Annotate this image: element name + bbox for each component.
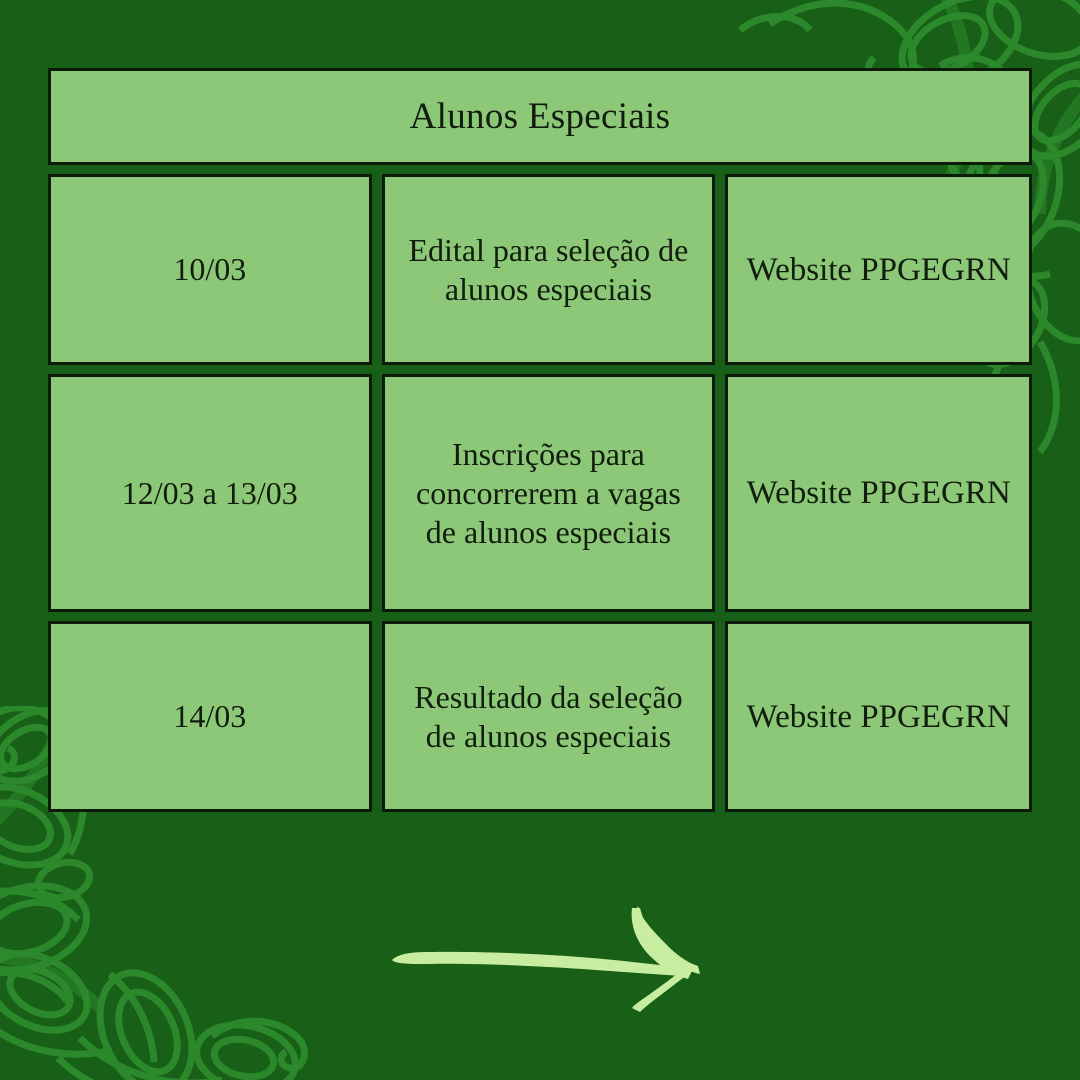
table-row: 10/03 Edital para seleção de alunos espe… xyxy=(48,174,1032,365)
date-text: 10/03 xyxy=(173,250,246,289)
description-text: Edital para seleção de alunos especiais xyxy=(399,231,699,309)
page-title: Alunos Especiais xyxy=(410,94,671,139)
cell-location: Website PPGEGRN xyxy=(725,174,1032,365)
location-text: Website PPGEGRN xyxy=(747,250,1011,290)
cell-date: 10/03 xyxy=(48,174,372,365)
schedule-table: Alunos Especiais 10/03 Edital para seleç… xyxy=(48,68,1032,812)
table-header-row: Alunos Especiais xyxy=(48,68,1032,165)
description-text: Inscrições para concorrerem a vagas de a… xyxy=(399,435,699,552)
location-text: Website PPGEGRN xyxy=(747,697,1011,737)
date-text: 14/03 xyxy=(173,697,246,736)
table-row: 14/03 Resultado da seleção de alunos esp… xyxy=(48,621,1032,812)
cell-date: 14/03 xyxy=(48,621,372,812)
cell-description: Inscrições para concorrerem a vagas de a… xyxy=(382,374,716,612)
poster-canvas: Alunos Especiais 10/03 Edital para seleç… xyxy=(0,0,1080,1080)
description-text: Resultado da seleção de alunos especiais xyxy=(399,678,699,756)
right-arrow-icon xyxy=(388,902,718,1012)
cell-location: Website PPGEGRN xyxy=(725,374,1032,612)
cell-date: 12/03 a 13/03 xyxy=(48,374,372,612)
cell-location: Website PPGEGRN xyxy=(725,621,1032,812)
date-text: 12/03 a 13/03 xyxy=(122,474,298,513)
table-title-cell: Alunos Especiais xyxy=(48,68,1032,165)
cell-description: Edital para seleção de alunos especiais xyxy=(382,174,716,365)
table-row: 12/03 a 13/03 Inscrições para concorrere… xyxy=(48,374,1032,612)
location-text: Website PPGEGRN xyxy=(747,473,1011,513)
cell-description: Resultado da seleção de alunos especiais xyxy=(382,621,716,812)
